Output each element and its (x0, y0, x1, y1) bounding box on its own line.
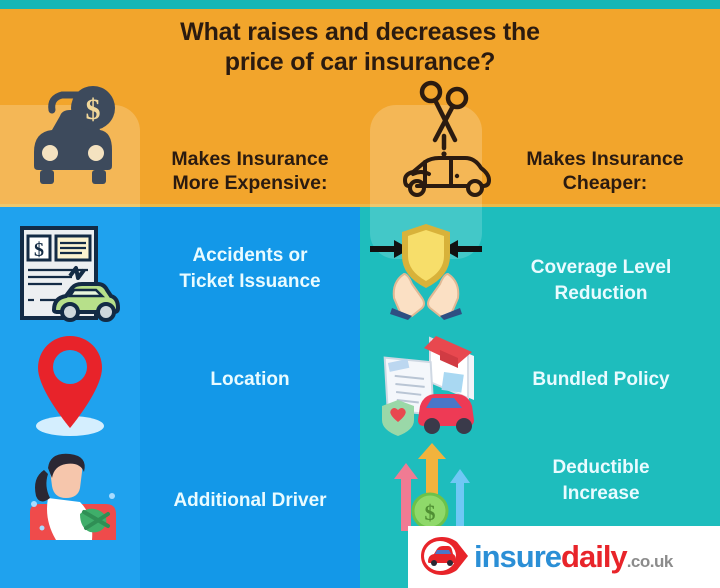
expensive-item-1-line2: Ticket Issuance (140, 269, 360, 295)
expensive-item-2-label: Location (140, 367, 360, 393)
cheaper-item-1-line1: Coverage Level (482, 255, 720, 281)
cheaper-item-3-label: Deductible Increase (482, 455, 720, 507)
expensive-item-3-line1: Additional Driver (140, 488, 360, 514)
scissors-cutting-car-icon (395, 78, 495, 204)
cheaper-item-2-line1: Bundled Policy (482, 367, 720, 393)
cheaper-item-3-line2: Increase (482, 481, 720, 507)
svg-text:$: $ (34, 239, 44, 261)
brand-logo-part3: .co.uk (627, 552, 673, 571)
header-right-label-line2: Cheaper: (490, 172, 720, 196)
infographic-canvas: What raises and decreases the price of c… (0, 0, 720, 588)
brand-logo-text: insuredaily.co.uk (474, 539, 673, 575)
expensive-item-1-line1: Accidents or (140, 243, 360, 269)
header-right-label: Makes Insurance Cheaper: (490, 148, 720, 196)
page-title: What raises and decreases the price of c… (0, 18, 720, 77)
header-left-label-line1: Makes Insurance (140, 148, 360, 172)
expensive-item-1-label: Accidents or Ticket Issuance (140, 243, 360, 295)
shield-in-hands-icon (368, 216, 484, 320)
person-waving-icon (22, 452, 122, 544)
brand-logo-part1: insure (474, 539, 561, 574)
cheaper-item-1-line2: Reduction (482, 281, 720, 307)
page-title-line2: price of car insurance? (0, 48, 720, 78)
header-right-label-line1: Makes Insurance (490, 148, 720, 172)
expensive-item-2-line1: Location (140, 367, 360, 393)
header-left-label: Makes Insurance More Expensive: (140, 148, 360, 196)
cheaper-item-3-line1: Deductible (482, 455, 720, 481)
expensive-item-3-label: Additional Driver (140, 488, 360, 514)
top-accent-strip (0, 0, 720, 9)
brand-logo-part2: daily (561, 539, 627, 574)
svg-text:$: $ (425, 500, 436, 525)
insurance-document-car-icon: $ (14, 224, 124, 324)
bundled-policy-house-car-icon (374, 332, 484, 438)
page-title-line1: What raises and decreases the (0, 18, 720, 48)
cheaper-item-2-label: Bundled Policy (482, 367, 720, 393)
header-left-label-line2: More Expensive: (140, 172, 360, 196)
car-in-speech-bubble-icon (418, 534, 470, 580)
map-pin-icon (30, 332, 110, 440)
cheaper-item-1-label: Coverage Level Reduction (482, 255, 720, 307)
brand-logo[interactable]: insuredaily.co.uk (408, 526, 720, 588)
rising-arrows-money-icon: $ (378, 443, 478, 535)
car-with-dollar-coin-icon: $ (12, 80, 132, 200)
svg-text:$: $ (86, 93, 101, 126)
